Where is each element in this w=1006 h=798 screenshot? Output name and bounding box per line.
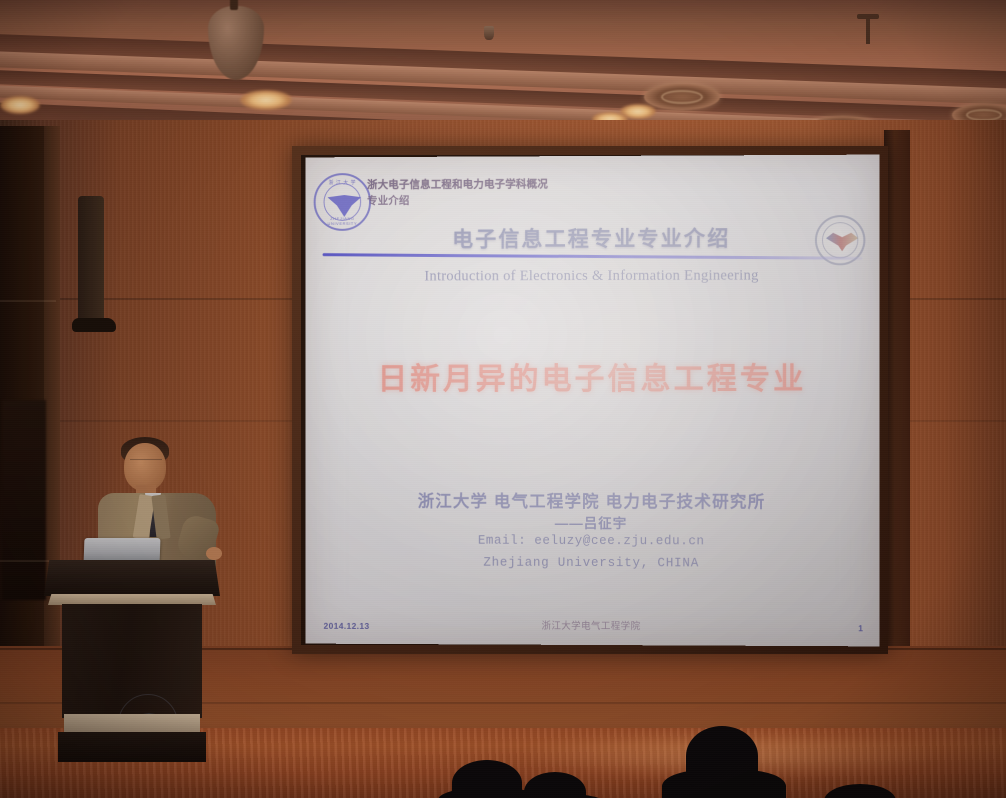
slide-subtitle: Introduction of Electronics & Informatio… <box>306 267 880 285</box>
audience-head <box>452 760 522 798</box>
slide-presenter: ——吕征宇 <box>306 511 880 532</box>
left-niche <box>2 400 46 600</box>
lectern-base-band <box>64 714 200 734</box>
sprinkler-icon <box>484 26 494 40</box>
slide-footer-center: 浙江大学电气工程学院 <box>306 617 880 634</box>
audience-head <box>686 726 758 786</box>
lectern-base <box>58 732 206 762</box>
ceiling-vent-icon <box>644 84 720 110</box>
presenter-leg <box>78 196 104 324</box>
lectern-top <box>44 560 220 596</box>
lectern-body <box>62 604 202 718</box>
slide-footer-page: 1 <box>858 623 863 633</box>
presenter-shoe <box>72 318 116 332</box>
presenter-head <box>124 443 166 491</box>
lectern <box>44 560 220 760</box>
slide-title: 电子信息工程专业专业介绍 <box>306 222 880 254</box>
title-divider <box>323 253 863 260</box>
slide-header-line-1: 浙大电子信息工程和电力电子学科概况 <box>367 176 548 192</box>
ceiling-mount-icon <box>866 18 870 44</box>
slide-university: Zhejiang University, CHINA <box>306 555 880 571</box>
zhejiang-university-logo-icon: 浙 江 大 学 ZHEJIANG UNIVERSITY <box>314 173 371 231</box>
logo-top-text: 浙 江 大 学 <box>316 179 369 186</box>
slide-header-line-2: 专业介绍 <box>367 193 409 208</box>
lecture-hall-photo: 浙 江 大 学 ZHEJIANG UNIVERSITY 浙大电子信息工程和电力电… <box>0 0 1006 798</box>
slide-main-title: 日新月异的电子信息工程专业 <box>306 354 880 398</box>
slide-email: Email: eeluzy@cee.zju.edu.cn <box>306 533 880 549</box>
projection-screen[interactable]: 浙 江 大 学 ZHEJIANG UNIVERSITY 浙大电子信息工程和电力电… <box>306 155 880 647</box>
presenter-hand <box>206 547 222 560</box>
downlight-icon <box>240 90 292 110</box>
downlight-icon <box>0 96 40 114</box>
presenter-glasses-icon <box>130 459 162 466</box>
presentation-slide: 浙 江 大 学 ZHEJIANG UNIVERSITY 浙大电子信息工程和电力电… <box>306 155 880 647</box>
slide-affiliation: 浙江大学 电气工程学院 电力电子技术研究所 <box>306 488 880 513</box>
